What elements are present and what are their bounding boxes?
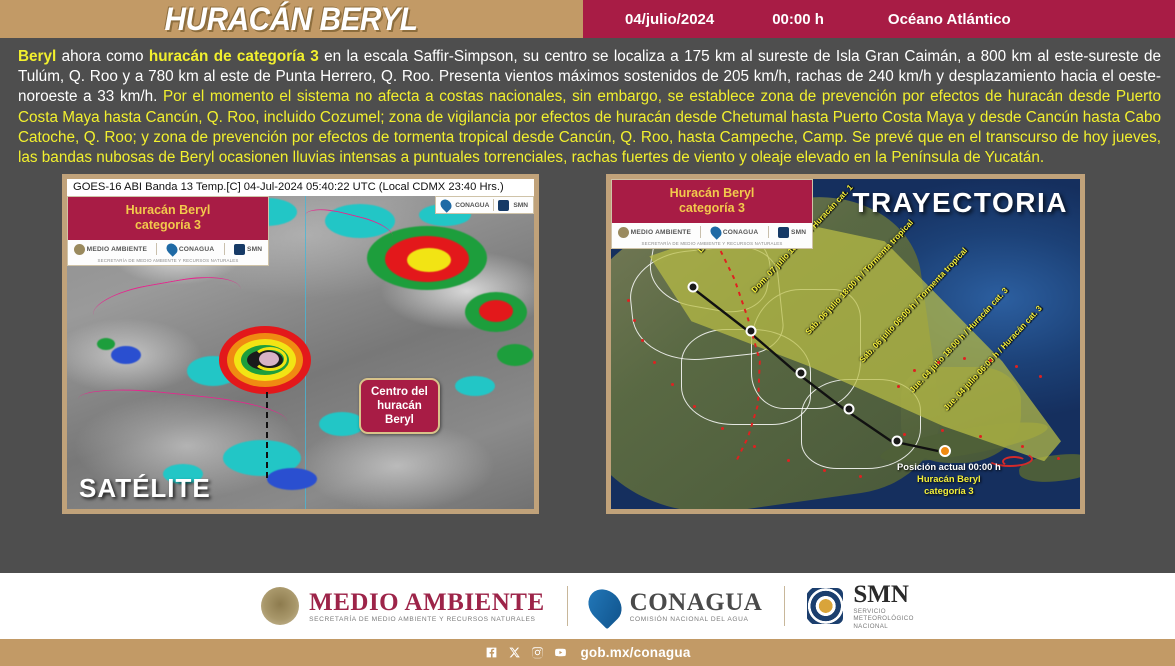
water-drop-icon [164,241,180,257]
weather-bulletin-page: HURACÁN BERYL 04/julio/2024 00:00 h Océa… [0,0,1175,666]
footer-conagua: CONAGUA COMISIÓN NACIONAL DEL AGUA [568,588,785,624]
category-highlight: huracán de categoría 3 [149,48,319,65]
bulletin-text: Beryl ahora como huracán de categoría 3 … [0,38,1175,172]
brand-storm-name: Huracán Beryl [70,203,266,218]
brand-storm-category: categoría 3 [70,218,266,233]
brand-org-row: MEDIO AMBIENTE CONAGUA SMN [612,223,812,241]
footer-ma-subtitle: SECRETARÍA DE MEDIO AMBIENTE Y RECURSOS … [309,616,545,623]
satellite-brand-plate: Huracán Beryl categoría 3 MEDIO AMBIENTE… [67,196,269,266]
page-header: HURACÁN BERYL 04/julio/2024 00:00 h Océa… [0,0,1175,38]
bulletin-seg2: ahora como [56,48,149,65]
footer-smn-sub3: NACIONAL [853,623,914,631]
youtube-icon[interactable] [553,646,567,660]
position-line-1: Posición actual 00:00 h [897,461,1001,473]
trajectory-brand-plate: Huracán Beryl categoría 3 MEDIO AMBIENTE… [611,179,813,249]
header-title-area: HURACÁN BERYL [0,0,583,38]
footer-smn-name: SMN [853,581,909,608]
page-title: HURACÁN BERYL [165,1,418,38]
track-node-current-position [939,445,951,457]
smn-logo-icon [778,227,789,238]
corner-smn-label: SMN [513,202,528,209]
ocean-basin: Océano Atlántico [888,11,1011,28]
brand-org3-label: SMN [247,246,262,253]
instagram-icon[interactable] [530,646,544,660]
brand-org2-label: CONAGUA [723,229,758,236]
brand-storm-banner: Huracán Beryl categoría 3 [612,180,812,223]
brand-org2-label: CONAGUA [179,246,214,253]
track-node [746,326,757,337]
water-drop-icon [708,224,724,240]
hurricane-eye-structure [219,326,311,394]
header-meta-area: 04/julio/2024 00:00 h Océano Atlántico [583,0,1175,38]
track-node [688,282,699,293]
footer-ma-name: MEDIO AMBIENTE [309,589,545,616]
brand-storm-category: categoría 3 [614,201,810,216]
warning-zones-highlight: Por el momento el sistema no afecta a co… [18,88,1161,166]
bulletin-date: 04/julio/2024 [625,11,714,28]
bulletin-time: 00:00 h [772,11,824,28]
water-drop-icon [581,583,628,630]
footer-smn: SMN SERVICIO METEOROLÓGICO NACIONAL [785,582,936,631]
brand-smn: SMN [778,227,806,238]
trajectory-view-label: TRAYECTORIA [852,187,1068,219]
brand-medio-ambiente: MEDIO AMBIENTE [618,227,691,238]
satellite-view-label: SATÉLITE [79,473,211,504]
brand-divider [224,243,225,255]
callout-line-3: Beryl [371,413,428,427]
x-twitter-icon[interactable] [507,646,521,660]
footer-smn-sub2: METEOROLÓGICO [853,615,914,623]
brand-conagua: CONAGUA [167,243,214,255]
smn-logo-icon [234,244,245,255]
brand-org1-subtitle: SECRETARÍA DE MEDIO AMBIENTE Y RECURSOS … [68,258,268,265]
brand-conagua: CONAGUA [711,226,758,238]
footer-logos: MEDIO AMBIENTE SECRETARÍA DE MEDIO AMBIE… [0,573,1175,639]
brand-divider [156,243,157,255]
satellite-panel: GOES-16 ABI Banda 13 Temp.[C] 04-Jul-202… [62,174,539,514]
brand-smn: SMN [234,244,262,255]
brand-org1-subtitle: SECRETARÍA DE MEDIO AMBIENTE Y RECURSOS … [612,241,812,248]
ir-blob [111,346,141,364]
ir-blob [497,344,533,366]
satellite-image: SATÉLITE Centro del huracán Beryl Huracá… [67,196,534,514]
mexico-seal-icon [74,244,85,255]
satellite-corner-brand: CONAGUA SMN [435,196,534,214]
hurricane-center-callout: Centro del huracán Beryl [359,378,440,434]
mexico-coat-of-arms-icon [261,587,299,625]
brand-storm-banner: Huracán Beryl categoría 3 [68,197,268,240]
trajectory-panel: Lun. 08 julio 18:00 h / Tormenta tropica… [606,174,1085,514]
callout-line-1: Centro del [371,385,428,399]
brand-divider [700,226,701,238]
footer-cg-subtitle: COMISIÓN NACIONAL DEL AGUA [630,616,763,623]
water-drop-icon [438,197,454,213]
position-line-3: categoría 3 [897,485,1001,497]
social-bar: gob.mx/conagua [0,639,1175,666]
brand-medio-ambiente: MEDIO AMBIENTE [74,244,147,255]
brand-org-row: MEDIO AMBIENTE CONAGUA SMN [68,240,268,258]
brand-org3-label: SMN [791,229,806,236]
footer-smn-text: SMN SERVICIO METEOROLÓGICO NACIONAL [853,582,914,631]
brand-org1-label: MEDIO AMBIENTE [87,246,147,253]
footer-ma-text: MEDIO AMBIENTE SECRETARÍA DE MEDIO AMBIE… [309,590,545,623]
ir-blob [97,338,115,350]
satellite-metadata-strip: GOES-16 ABI Banda 13 Temp.[C] 04-Jul-202… [67,179,534,196]
ir-blob [455,376,495,396]
facebook-icon[interactable] [484,646,498,660]
track-node [892,436,903,447]
corner-conagua-label: CONAGUA [455,202,489,209]
trajectory-map: Lun. 08 julio 18:00 h / Tormenta tropica… [611,179,1080,509]
ir-blob [267,468,317,490]
brand-divider [768,226,769,238]
smn-logo-icon [498,200,509,211]
footer-cg-name: CONAGUA [630,589,763,616]
track-node [844,404,855,415]
mexico-seal-icon [618,227,629,238]
footer-smn-sub1: SERVICIO [853,608,914,616]
brand-divider [493,199,494,211]
footer-medio-ambiente: MEDIO AMBIENTE SECRETARÍA DE MEDIO AMBIE… [239,587,567,625]
smn-logo-icon [807,588,843,624]
imagery-panels: GOES-16 ABI Banda 13 Temp.[C] 04-Jul-202… [0,174,1175,526]
meridian-dashed-line [266,392,268,478]
current-position-note: Posición actual 00:00 h Huracán Beryl ca… [897,461,1001,497]
brand-storm-name: Huracán Beryl [614,186,810,201]
callout-line-2: huracán [371,399,428,413]
position-line-2: Huracán Beryl [897,473,1001,485]
storm-name-highlight: Beryl [18,48,56,65]
footer-cg-text: CONAGUA COMISIÓN NACIONAL DEL AGUA [630,590,763,623]
social-url[interactable]: gob.mx/conagua [580,645,690,660]
brand-org1-label: MEDIO AMBIENTE [631,229,691,236]
track-node [796,368,807,379]
